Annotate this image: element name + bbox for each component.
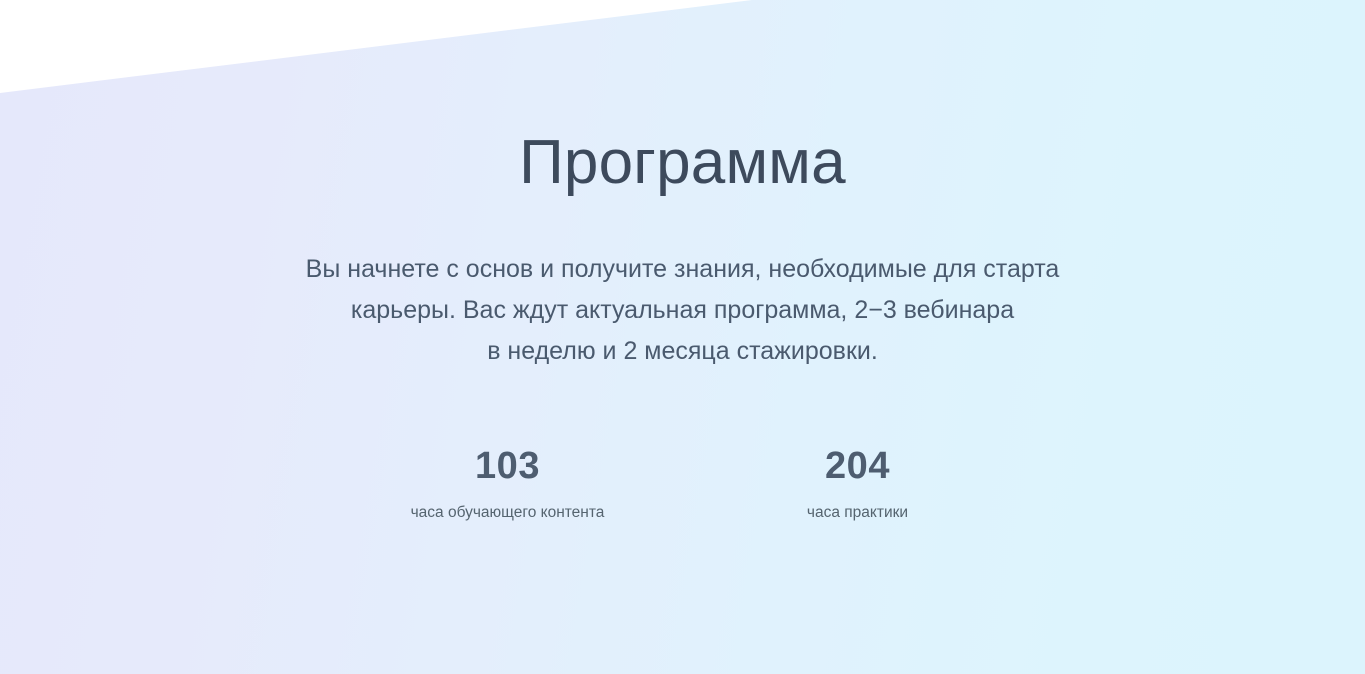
stat-label: часа обучающего контента (391, 488, 625, 528)
stat-item-practice-hours: 204 часа практики (741, 444, 975, 528)
page-title: Программа (0, 0, 1365, 197)
hero-content: Программа Вы начнете с основ и получите … (0, 0, 1365, 528)
intro-line-2: карьеры. Вас ждут актуальная программа, … (183, 290, 1183, 331)
stat-label: часа практики (741, 488, 975, 528)
intro-paragraph: Вы начнете с основ и получите знания, не… (183, 197, 1183, 372)
stat-value: 204 (741, 444, 975, 488)
program-hero-section: Программа Вы начнете с основ и получите … (0, 0, 1365, 674)
stat-value: 103 (391, 444, 625, 488)
intro-line-3: в неделю и 2 месяца стажировки. (183, 331, 1183, 372)
intro-line-1: Вы начнете с основ и получите знания, не… (183, 249, 1183, 290)
stats-row: 103 часа обучающего контента 204 часа пр… (0, 372, 1365, 528)
stat-item-content-hours: 103 часа обучающего контента (391, 444, 625, 528)
